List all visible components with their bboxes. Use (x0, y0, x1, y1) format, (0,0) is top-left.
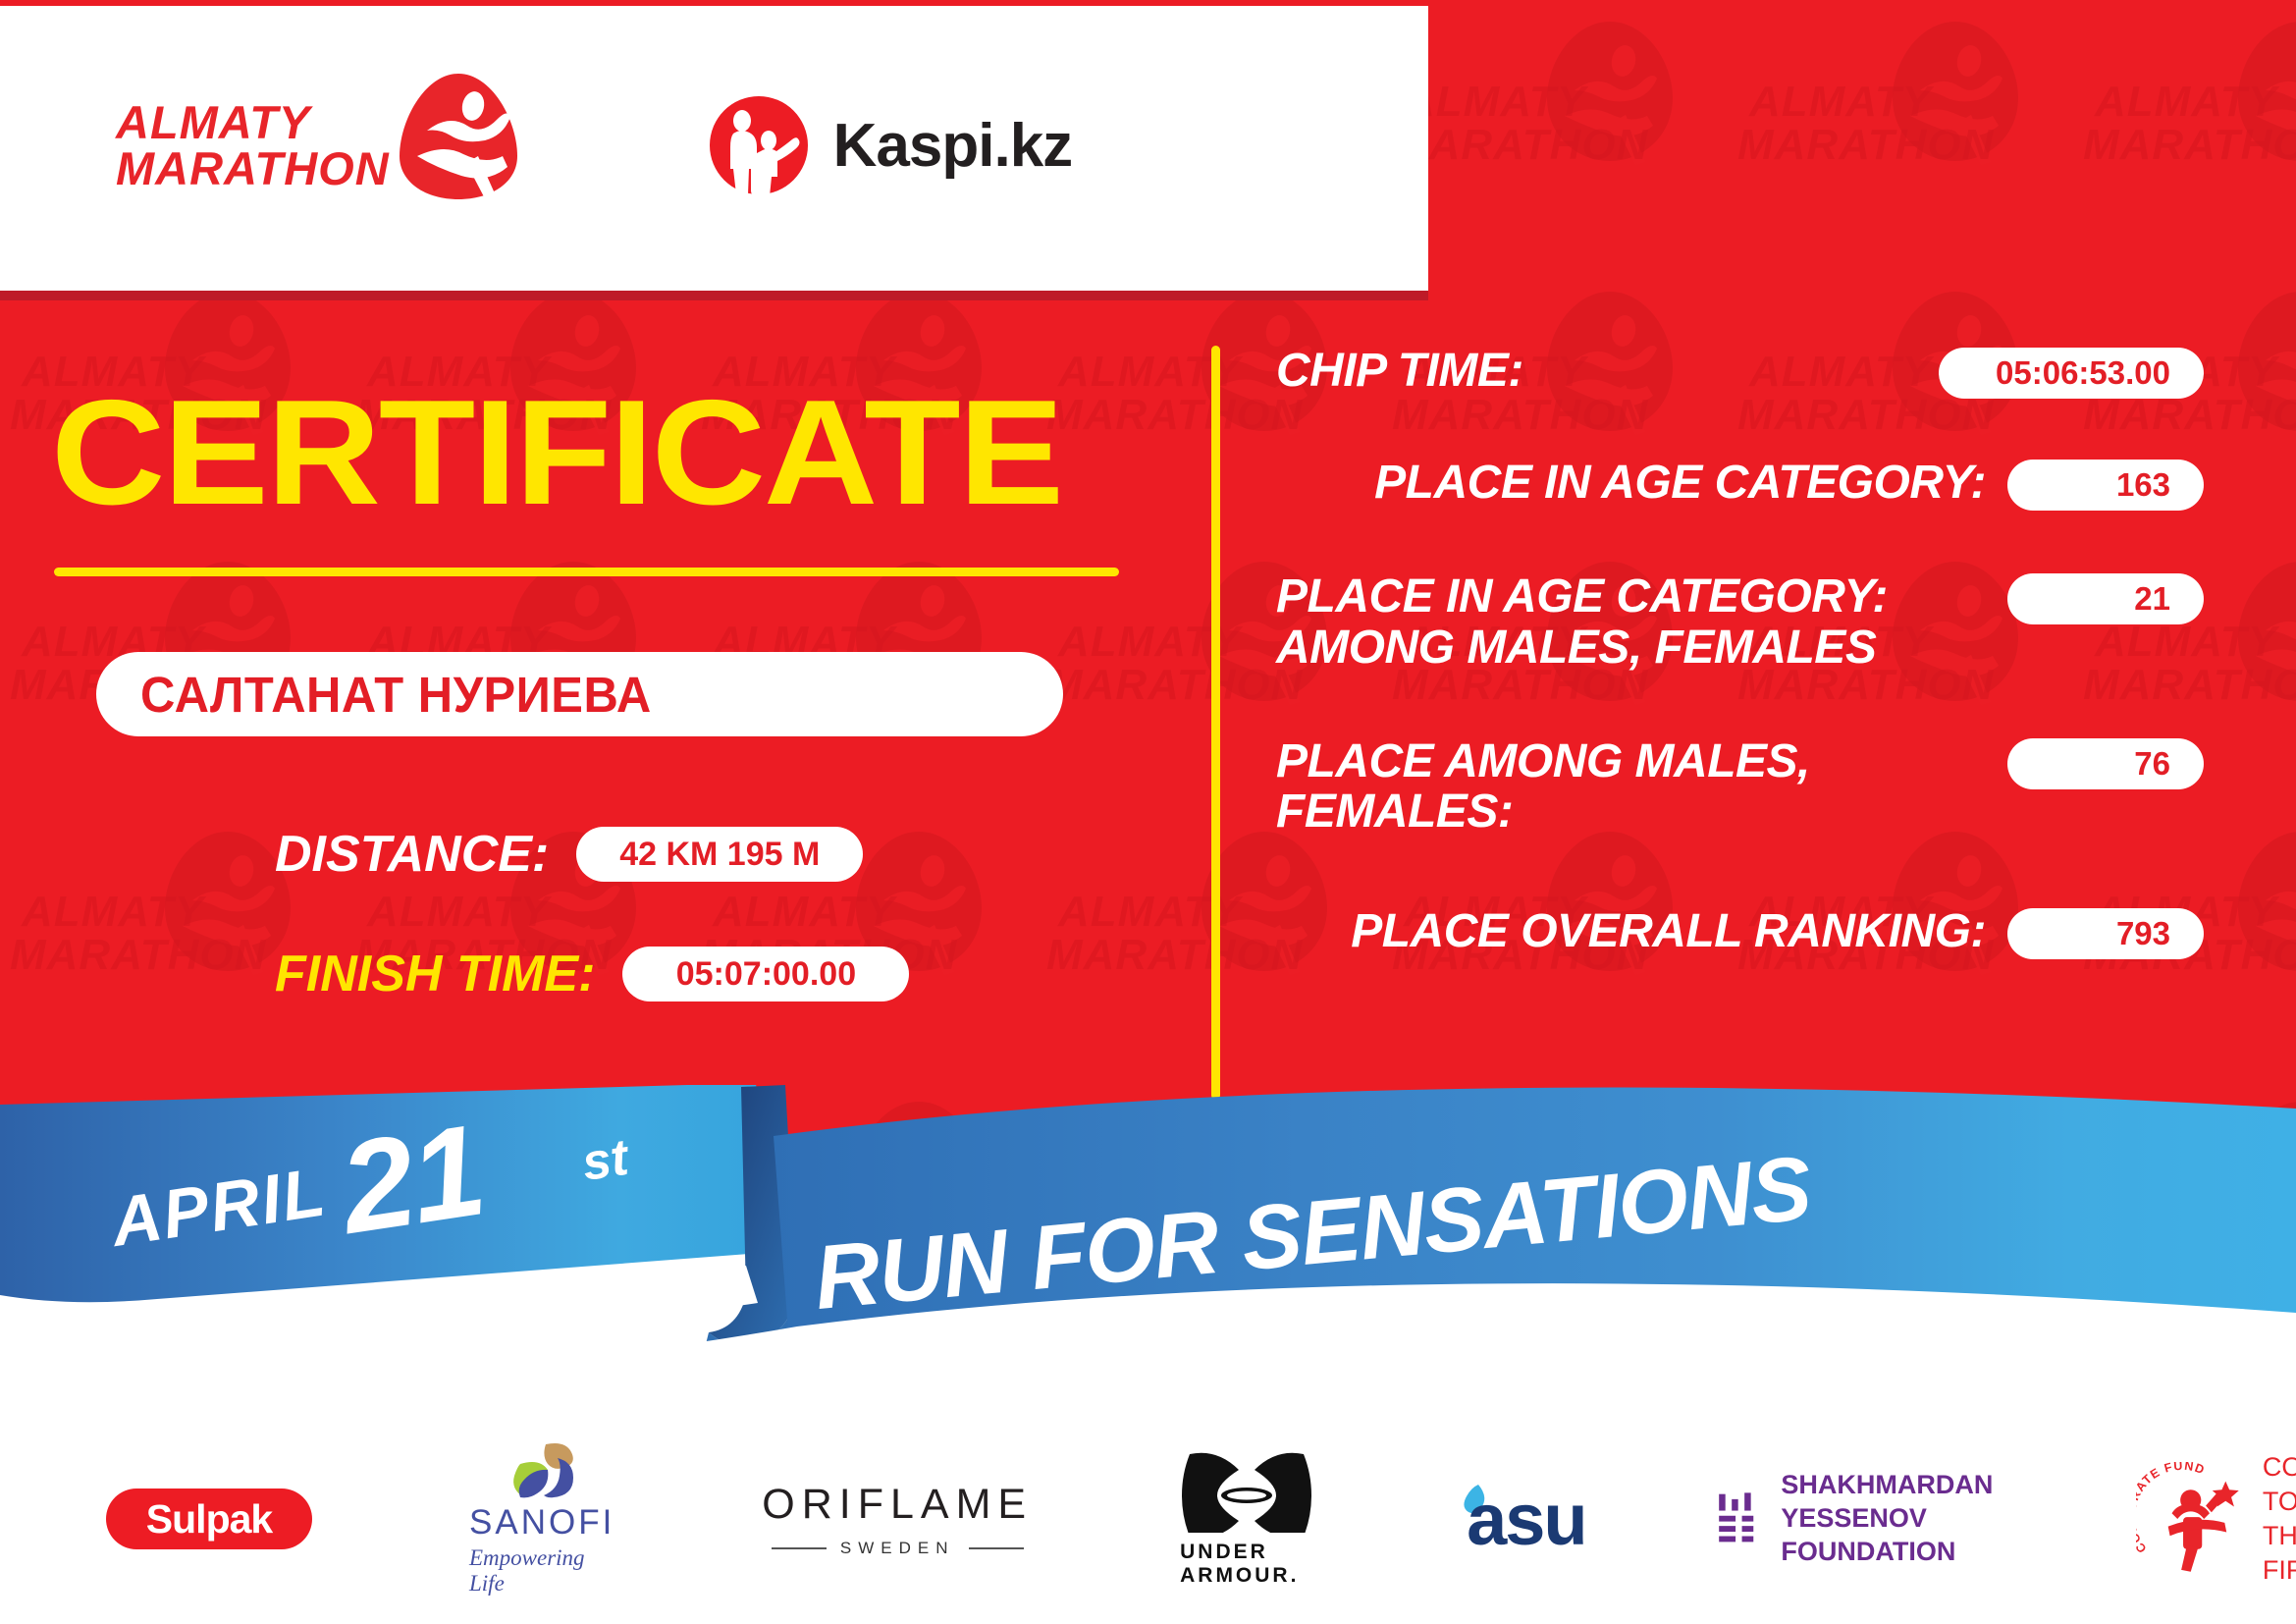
asu-wordmark: asu (1467, 1478, 1586, 1561)
under-armour-icon (1180, 1450, 1313, 1533)
label-line-2: AMONG MALES, FEMALES (1276, 623, 1986, 674)
yessenov-wordmark: SHAKHMARDAN YESSENOV FOUNDATION (1781, 1469, 2017, 1568)
label-line-2: FEMALES: (1276, 786, 1986, 838)
courage-line-2: TO BE (2263, 1485, 2296, 1519)
place-age-category-gender-row: PLACE IN AGE CATEGORY: AMONG MALES, FEMA… (1276, 571, 2204, 674)
chip-time-row: CHIP TIME: 05:06:53.00 (1276, 346, 2204, 399)
brand-row: ALMATY MARATHON (0, 6, 1139, 285)
place-overall-ranking-value-pill: 793 (2007, 908, 2204, 959)
event-ribbon (0, 1085, 2296, 1438)
place-among-gender-value-pill: 76 (2007, 738, 2204, 789)
courage-line-1: COURAGE (2263, 1450, 2296, 1485)
finish-time-value-pill: 05:07:00.00 (622, 947, 909, 1001)
label-line-1: PLACE AMONG MALES, (1276, 736, 1986, 787)
oriflame-sub: SWEDEN (772, 1539, 1024, 1558)
chip-time-label: CHIP TIME: (1276, 346, 1917, 397)
courage-first-icon: CORPORATE FUND (2136, 1462, 2249, 1576)
place-overall-ranking-label: PLACE OVERALL RANKING: (1276, 906, 1986, 957)
yessenov-line-2: FOUNDATION (1781, 1536, 2017, 1569)
place-age-category-value-pill: 163 (2007, 460, 2204, 511)
sanofi-tagline: Empowering Life (469, 1545, 614, 1597)
rule-left (772, 1547, 827, 1549)
sponsor-under-armour[interactable]: UNDER ARMOUR. (1180, 1431, 1313, 1607)
distance-value-pill: 42 KM 195 M (576, 827, 863, 882)
place-age-category-gender-label: PLACE IN AGE CATEGORY: AMONG MALES, FEMA… (1276, 571, 1986, 674)
marathon-line: MARATHON (116, 145, 390, 191)
almaty-marathon-wordmark: ALMATY MARATHON (116, 99, 390, 191)
courage-line-3: THE FIRST! (2263, 1519, 2296, 1588)
sponsor-yessenov-foundation[interactable]: SHAKHMARDAN YESSENOV FOUNDATION (1714, 1431, 2018, 1607)
under-armour-wordmark: UNDER ARMOUR. (1180, 1541, 1313, 1588)
chip-time-value-pill: 05:06:53.00 (1939, 348, 2204, 399)
sulpak-logo: Sulpak (106, 1489, 312, 1549)
label-line-1: PLACE IN AGE CATEGORY: (1276, 571, 1986, 623)
place-among-gender-row: PLACE AMONG MALES, FEMALES: 76 (1276, 736, 2204, 839)
kaspi-family-icon (708, 94, 810, 196)
oriflame-wordmark: ORIFLAME (762, 1481, 1033, 1529)
sanofi-mark-icon (503, 1442, 581, 1499)
left-column: CERTIFICATE САЛТАНАТ НУРИЕВА DISTANCE: 4… (0, 295, 1207, 1178)
column-divider (1211, 346, 1220, 1100)
distance-value: 42 KM 195 M (619, 836, 820, 874)
place-age-category-row: PLACE IN AGE CATEGORY: 163 (1276, 458, 2204, 511)
runner-drop-icon (396, 70, 521, 203)
yessenov-line-1: SHAKHMARDAN YESSENOV (1781, 1469, 2017, 1536)
sponsor-asu[interactable]: asu (1459, 1431, 1586, 1607)
yessenov-mark-icon (1714, 1477, 1760, 1561)
athlete-name-value: САЛТАНАТ НУРИЕВА (140, 666, 652, 724)
finish-time-row: FINISH TIME: 05:07:00.00 (275, 945, 909, 1003)
distance-row: DISTANCE: 42 KM 195 M (275, 825, 863, 884)
courage-first-wordmark: COURAGE TO BE THE FIRST! (2263, 1450, 2296, 1588)
place-among-gender-value: 76 (2134, 745, 2204, 783)
place-age-category-gender-value-pill: 21 (2007, 573, 2204, 624)
sanofi-wordmark: SANOFI (469, 1503, 614, 1543)
sponsor-sulpak[interactable]: Sulpak (0, 1431, 312, 1607)
place-overall-ranking-row: PLACE OVERALL RANKING: 793 (1276, 906, 2204, 959)
athlete-name-field: САЛТАНАТ НУРИЕВА (96, 652, 1063, 736)
sponsor-oriflame[interactable]: ORIFLAME SWEDEN (762, 1431, 1033, 1607)
place-age-category-label: PLACE IN AGE CATEGORY: (1276, 458, 1986, 509)
results-column: CHIP TIME: 05:06:53.00 PLACE IN AGE CATE… (1276, 346, 2204, 959)
almaty-marathon-logo[interactable]: ALMATY MARATHON (116, 87, 521, 203)
place-overall-ranking-value: 793 (2116, 915, 2204, 952)
place-age-category-value: 163 (2116, 466, 2204, 504)
kaspi-logo[interactable]: Kaspi.kz (708, 94, 1073, 196)
sponsor-sanofi[interactable]: SANOFI Empowering Life (469, 1431, 614, 1607)
title-underline (54, 568, 1119, 576)
place-among-gender-label: PLACE AMONG MALES, FEMALES: (1276, 736, 1986, 839)
distance-label: DISTANCE: (275, 825, 549, 884)
finish-time-label: FINISH TIME: (275, 945, 595, 1003)
page-title: CERTIFICATE (51, 378, 1062, 527)
almaty-line: ALMATY (116, 99, 390, 145)
place-age-category-gender-value: 21 (2134, 580, 2204, 618)
sponsor-corporate-fund[interactable]: CORPORATE FUND COURAGE TO BE THE FIRST! (2136, 1431, 2296, 1607)
kaspi-wordmark: Kaspi.kz (833, 111, 1073, 181)
chip-time-value: 05:06:53.00 (1996, 354, 2204, 392)
certificate-page: ALMATY MARATHON ALMATY MARATHON (0, 0, 2296, 1624)
oriflame-tagline: SWEDEN (840, 1539, 955, 1558)
rule-right (969, 1547, 1024, 1549)
finish-time-value: 05:07:00.00 (676, 955, 856, 994)
sponsor-strip: Sulpak SANOFI Empowering Life ORIFLAME S… (0, 1414, 2296, 1624)
